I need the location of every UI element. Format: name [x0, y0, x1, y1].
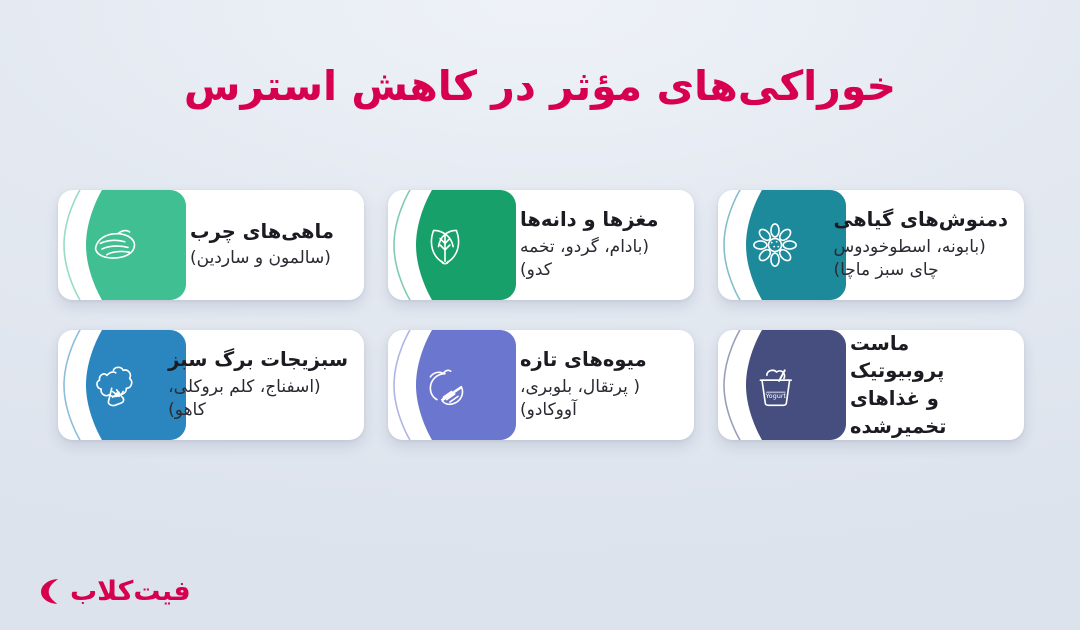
- logo-text: فیت‌کلاب: [70, 578, 191, 605]
- flower-icon: [732, 190, 818, 300]
- card-subtitle: (بابونه، اسطوخودوس چای سبز ماچا): [833, 236, 1008, 283]
- card-text-fresh-fruits: میوه‌های تازه ( پرتقال، بلوبری، آووکادو): [520, 347, 678, 422]
- yogurt-cup-icon: Yogurt: [732, 330, 818, 440]
- card-subtitle: ( پرتقال، بلوبری، آووکادو): [520, 376, 678, 423]
- citrus-icon: [402, 330, 488, 440]
- card-subtitle: (بادام، گردو، تخمه کدو): [520, 236, 678, 283]
- card-text-fatty-fish: ماهی‌های چرب (سالمون و ساردین): [190, 219, 348, 271]
- card-fatty-fish[interactable]: ماهی‌های چرب (سالمون و ساردین): [58, 190, 364, 300]
- fish-fillet-icon: [72, 190, 158, 300]
- page-title: خوراکی‌های مؤثر در کاهش استرس: [0, 61, 1080, 112]
- card-text-herbal-teas: دمنوش‌های گیاهی (بابونه، اسطوخودوس چای س…: [833, 207, 1008, 282]
- card-title: ماهی‌های چرب: [190, 219, 348, 244]
- brand-logo[interactable]: فیت‌کلاب: [30, 574, 191, 608]
- card-subtitle: (سالمون و ساردین): [190, 247, 348, 270]
- broccoli-icon: [72, 330, 158, 440]
- card-leafy-greens[interactable]: سبزیجات برگ سبز (اسفناج، کلم بروکلی، کاه…: [58, 330, 364, 440]
- card-text-probiotic-yogurt: ماست پروبیوتیک و غذاهای تخمیرشده: [850, 330, 1008, 440]
- crescent-c-mark: [30, 574, 64, 608]
- card-title: دمنوش‌های گیاهی: [833, 207, 1008, 232]
- card-title: ماست پروبیوتیک و غذاهای تخمیرشده: [850, 330, 1008, 440]
- cards-grid: دمنوش‌های گیاهی (بابونه، اسطوخودوس چای س…: [58, 190, 1024, 440]
- card-text-leafy-greens: سبزیجات برگ سبز (اسفناج، کلم بروکلی، کاه…: [168, 347, 348, 422]
- almond-icon: [402, 190, 488, 300]
- card-herbal-teas[interactable]: دمنوش‌های گیاهی (بابونه، اسطوخودوس چای س…: [718, 190, 1024, 300]
- card-fresh-fruits[interactable]: میوه‌های تازه ( پرتقال، بلوبری، آووکادو): [388, 330, 694, 440]
- card-subtitle: (اسفناج، کلم بروکلی، کاهو): [168, 376, 348, 423]
- card-title: میوه‌های تازه: [520, 347, 678, 372]
- card-text-nuts-and-seeds: مغزها و دانه‌ها (بادام، گردو، تخمه کدو): [520, 207, 678, 282]
- svg-text:Yogurt: Yogurt: [765, 392, 787, 400]
- card-title: مغزها و دانه‌ها: [520, 207, 678, 232]
- infographic-canvas: خوراکی‌های مؤثر در کاهش استرس: [0, 0, 1080, 630]
- card-nuts-and-seeds[interactable]: مغزها و دانه‌ها (بادام، گردو، تخمه کدو): [388, 190, 694, 300]
- card-title: سبزیجات برگ سبز: [168, 347, 348, 372]
- card-probiotic-yogurt[interactable]: Yogurt ماست پروبیوتیک و غذاهای تخمیرشده: [718, 330, 1024, 440]
